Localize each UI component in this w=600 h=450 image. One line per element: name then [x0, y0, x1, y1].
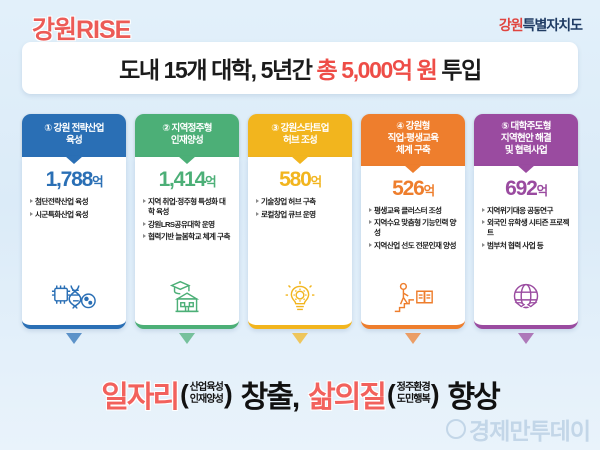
strategy-card-1[interactable]: ① 강원 전략산업 육성 1,788억 첨단전략산업 육성 시군특화산업 육성	[22, 114, 126, 329]
slogan-word-2: 창출,	[241, 372, 299, 416]
list-item: 기술창업 허브 구축	[256, 197, 344, 207]
card-5-amount-unit: 억	[537, 184, 547, 198]
card-4-header: ④ 강원형 직업·평생교육 체계 구축	[361, 114, 465, 166]
card-5-bullet-0: 지역위기대응 공동연구	[487, 206, 553, 216]
header-brand-row: 강원RISE 강원특별자치도	[0, 8, 600, 42]
slogan-paren-1-line2: 인재양성	[190, 394, 223, 406]
paren-close-2: )	[431, 379, 440, 410]
card-4-amount-unit: 억	[424, 184, 434, 198]
card-4-body: 526억 평생교육 클러스터 조성 지역수요 맞춤형 기능인력 양성 지역산업 …	[361, 166, 465, 329]
card-3-bullet-0: 기술창업 허브 구축	[261, 197, 316, 207]
card-1-down-arrow-icon	[66, 333, 82, 344]
bullet-triangle-icon	[30, 212, 33, 216]
card-1-bullet-1: 시군특화산업 육성	[35, 210, 88, 220]
bullet-triangle-icon	[30, 199, 33, 203]
headline-text: 도내 15개 대학, 5년간 총 5,000억 원 투입	[119, 51, 481, 85]
bullet-triangle-icon	[143, 222, 146, 226]
gov-logo-rest: 특별자치도	[523, 17, 582, 33]
slogan-row: 일자리 ( 산업육성 인재양성 ) 창출, 삶의질 ( 정주환경 도민행복 ) …	[0, 372, 600, 416]
card-1-title-line2: 육성	[66, 135, 82, 146]
card-4-title-line2: 직업·평생교육	[388, 133, 439, 144]
card-1-body: 1,788억 첨단전략산업 육성 시군특화산업 육성	[22, 157, 126, 329]
card-5-title-line1: ⑤ 대학주도형	[501, 121, 550, 132]
card-5-amount-value: 692	[505, 177, 536, 200]
card-1-header: ① 강원 전략산업 육성	[22, 114, 126, 157]
gov-logo-accent: 강원	[499, 17, 523, 33]
card-3-down-arrow-icon	[292, 333, 308, 344]
card-2-down-arrow-icon	[179, 333, 195, 344]
slogan-word-4: 향상	[448, 372, 499, 416]
card-2-notch	[178, 156, 196, 164]
watermark: 경제만투데이	[446, 412, 590, 446]
slogan-paren-1-line1: 산업육성	[190, 382, 223, 394]
paren-open-1: (	[180, 379, 189, 410]
card-3-notch	[291, 156, 309, 164]
headline-highlight: 총 5,000억 원	[317, 57, 437, 83]
list-item: 평생교육 클러스터 조성	[369, 206, 457, 216]
card-2-title-line2: 인재양성	[171, 135, 203, 146]
strategy-card-strip: ① 강원 전략산업 육성 1,788억 첨단전략산업 육성 시군특화산업 육성	[22, 114, 578, 329]
slogan-word-1: 일자리	[101, 372, 178, 416]
slogan-paren-1-stack: 산업육성 인재양성	[190, 382, 223, 406]
card-3-title-line2: 허브 조성	[283, 135, 317, 146]
card-2-bullet-2: 협력기반 늘봄학교 체계 구축	[148, 232, 230, 242]
strategy-card-3[interactable]: ③ 강원스타트업 허브 조성 580억 기술창업 허브 구축 로컬창업 큐브 운…	[248, 114, 352, 329]
bullet-triangle-icon	[482, 208, 485, 212]
bullet-triangle-icon	[256, 212, 259, 216]
bullet-triangle-icon	[482, 220, 485, 224]
card-5-header: ⑤ 대학주도형 지역현안 해결 및 협력사업	[474, 114, 578, 166]
card-1-bullets: 첨단전략산업 육성 시군특화산업 육성	[28, 197, 120, 222]
watermark-text: 경제만투데이	[469, 412, 590, 446]
card-5-bullet-2: 범부처 협력 사업 등	[487, 241, 543, 251]
card-4-title-line1: ④ 강원형	[396, 121, 429, 132]
list-item: 강원LRS공유대학 운영	[143, 220, 231, 230]
bullet-triangle-icon	[256, 199, 259, 203]
card-2-bullet-0: 지역 취업·정주형 특성화 대학 육성	[148, 197, 231, 217]
bullet-triangle-icon	[143, 234, 146, 238]
card-5-amount: 692억	[505, 178, 547, 199]
card-4-bullet-0: 평생교육 클러스터 조성	[374, 206, 441, 216]
card-5-title-line3: 및 협력사업	[505, 145, 547, 156]
bullet-triangle-icon	[369, 208, 372, 212]
list-item: 지역위기대응 공동연구	[482, 206, 570, 216]
list-item: 지역 취업·정주형 특성화 대학 육성	[143, 197, 231, 217]
lightbulb-gear-icon	[277, 277, 323, 317]
card-1-amount-value: 1,788	[46, 168, 93, 191]
strategy-card-4[interactable]: ④ 강원형 직업·평생교육 체계 구축 526억 평생교육 클러스터 조성 지역…	[361, 114, 465, 329]
card-4-down-arrow-icon	[405, 333, 421, 344]
graduation-school-icon	[164, 277, 210, 317]
headline-part2: 투입	[436, 57, 481, 83]
paren-close-1: )	[224, 379, 233, 410]
strategy-card-5[interactable]: ⑤ 대학주도형 지역현안 해결 및 협력사업 692억 지역위기대응 공동연구 …	[474, 114, 578, 329]
slogan-paren-group-1: ( 산업육성 인재양성 )	[180, 379, 233, 410]
page-title: 강원RISE	[32, 10, 130, 46]
card-5-title-line2: 지역현안 해결	[501, 133, 551, 144]
card-5-body: 692억 지역위기대응 공동연구 외국인 유학생 시티즌 프로젝트 범부처 협력…	[474, 166, 578, 329]
card-3-title-line1: ③ 강원스타트업	[271, 123, 329, 134]
list-item: 범부처 협력 사업 등	[482, 241, 570, 251]
bullet-triangle-icon	[369, 220, 372, 224]
headline-banner: 도내 15개 대학, 5년간 총 5,000억 원 투입	[22, 42, 578, 94]
bullet-triangle-icon	[143, 199, 146, 203]
slogan-paren-group-2: ( 정주환경 도민행복 )	[387, 379, 440, 410]
list-item: 협력기반 늘봄학교 체계 구축	[143, 232, 231, 242]
bullet-triangle-icon	[369, 243, 372, 247]
card-2-amount-value: 1,414	[159, 168, 206, 191]
slogan-paren-2-line2: 도민행복	[397, 394, 430, 406]
card-5-bullet-1: 외국인 유학생 시티즌 프로젝트	[487, 218, 570, 238]
list-item: 시군특화산업 육성	[30, 210, 118, 220]
person-stairs-book-icon	[390, 277, 436, 317]
slogan-word-3: 삶의질	[308, 372, 385, 416]
card-2-bullet-1: 강원LRS공유대학 운영	[148, 220, 215, 230]
card-4-bullets: 평생교육 클러스터 조성 지역수요 맞춤형 기능인력 양성 지역산업 선도 전문…	[367, 206, 459, 254]
card-4-amount: 526억	[392, 178, 434, 199]
card-1-title-line1: ① 강원 전략산업	[44, 123, 103, 134]
headline-part1: 도내 15개 대학, 5년간	[119, 57, 316, 83]
card-2-header: ② 지역정주형 인재양성	[135, 114, 239, 157]
gov-logo: 강원특별자치도	[499, 15, 582, 35]
card-4-amount-value: 526	[392, 177, 423, 200]
card-2-body: 1,414억 지역 취업·정주형 특성화 대학 육성 강원LRS공유대학 운영 …	[135, 157, 239, 329]
paren-open-2: (	[387, 379, 396, 410]
card-2-bullets: 지역 취업·정주형 특성화 대학 육성 강원LRS공유대학 운영 협력기반 늘봄…	[141, 197, 233, 245]
card-2-title-line1: ② 지역정주형	[162, 123, 211, 134]
card-1-bullet-0: 첨단전략산업 육성	[35, 197, 88, 207]
card-4-bullet-1: 지역수요 맞춤형 기능인력 양성	[374, 218, 457, 238]
card-3-header: ③ 강원스타트업 허브 조성	[248, 114, 352, 157]
globe-handshake-icon	[503, 277, 549, 317]
card-3-amount-unit: 억	[311, 175, 321, 189]
card-1-amount-unit: 억	[92, 175, 102, 189]
bullet-triangle-icon	[482, 243, 485, 247]
card-1-amount: 1,788억	[46, 169, 103, 190]
card-5-bullets: 지역위기대응 공동연구 외국인 유학생 시티즌 프로젝트 범부처 협력 사업 등	[480, 206, 572, 254]
list-item: 외국인 유학생 시티즌 프로젝트	[482, 218, 570, 238]
card-3-amount-value: 580	[279, 168, 310, 191]
card-4-title-line3: 체계 구축	[396, 145, 430, 156]
list-item: 지역산업 선도 전문인재 양성	[369, 241, 457, 251]
dna-chip-icon	[51, 277, 97, 317]
slogan-paren-2-stack: 정주환경 도민행복	[397, 382, 430, 406]
list-item: 로컬창업 큐브 운영	[256, 210, 344, 220]
strategy-card-2[interactable]: ② 지역정주형 인재양성 1,414억 지역 취업·정주형 특성화 대학 육성 …	[135, 114, 239, 329]
slogan-paren-2-line1: 정주환경	[397, 382, 430, 394]
card-5-down-arrow-icon	[518, 333, 534, 344]
card-5-notch	[517, 165, 535, 173]
card-4-bullet-2: 지역산업 선도 전문인재 양성	[374, 241, 456, 251]
card-2-amount: 1,414억	[159, 169, 216, 190]
card-3-bullets: 기술창업 허브 구축 로컬창업 큐브 운영	[254, 197, 346, 222]
card-3-bullet-1: 로컬창업 큐브 운영	[261, 210, 316, 220]
card-3-amount: 580억	[279, 169, 321, 190]
card-4-notch	[404, 165, 422, 173]
list-item: 지역수요 맞춤형 기능인력 양성	[369, 218, 457, 238]
list-item: 첨단전략산업 육성	[30, 197, 118, 207]
card-1-notch	[65, 156, 83, 164]
watermark-logo-icon	[446, 419, 466, 439]
card-2-amount-unit: 억	[205, 175, 215, 189]
card-3-body: 580억 기술창업 허브 구축 로컬창업 큐브 운영	[248, 157, 352, 329]
